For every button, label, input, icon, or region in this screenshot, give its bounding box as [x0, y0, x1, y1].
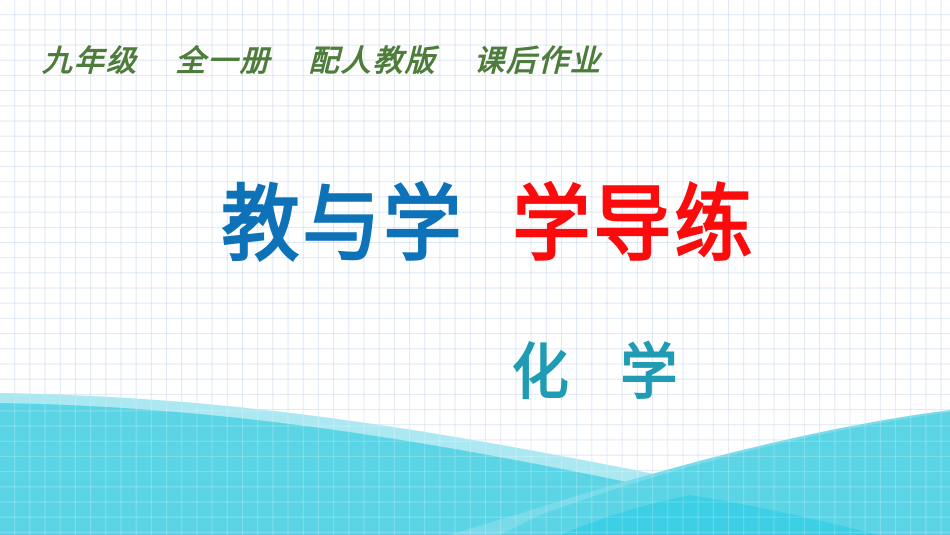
course-meta-line: 九年级 全一册 配人教版 课后作业 — [42, 44, 602, 80]
subject-subtitle-text: 化 学 — [512, 343, 682, 403]
title-part-red: 学导练 — [512, 184, 755, 267]
title-part-blue: 教与学 — [221, 184, 464, 267]
main-title: 教与学学导练 — [0, 168, 950, 278]
subject-subtitle: 化 学 — [0, 286, 950, 457]
slide-canvas: 九年级 全一册 配人教版 课后作业 教与学学导练 化 学 — [0, 0, 950, 535]
slide-content: 九年级 全一册 配人教版 课后作业 教与学学导练 化 学 — [0, 0, 950, 535]
